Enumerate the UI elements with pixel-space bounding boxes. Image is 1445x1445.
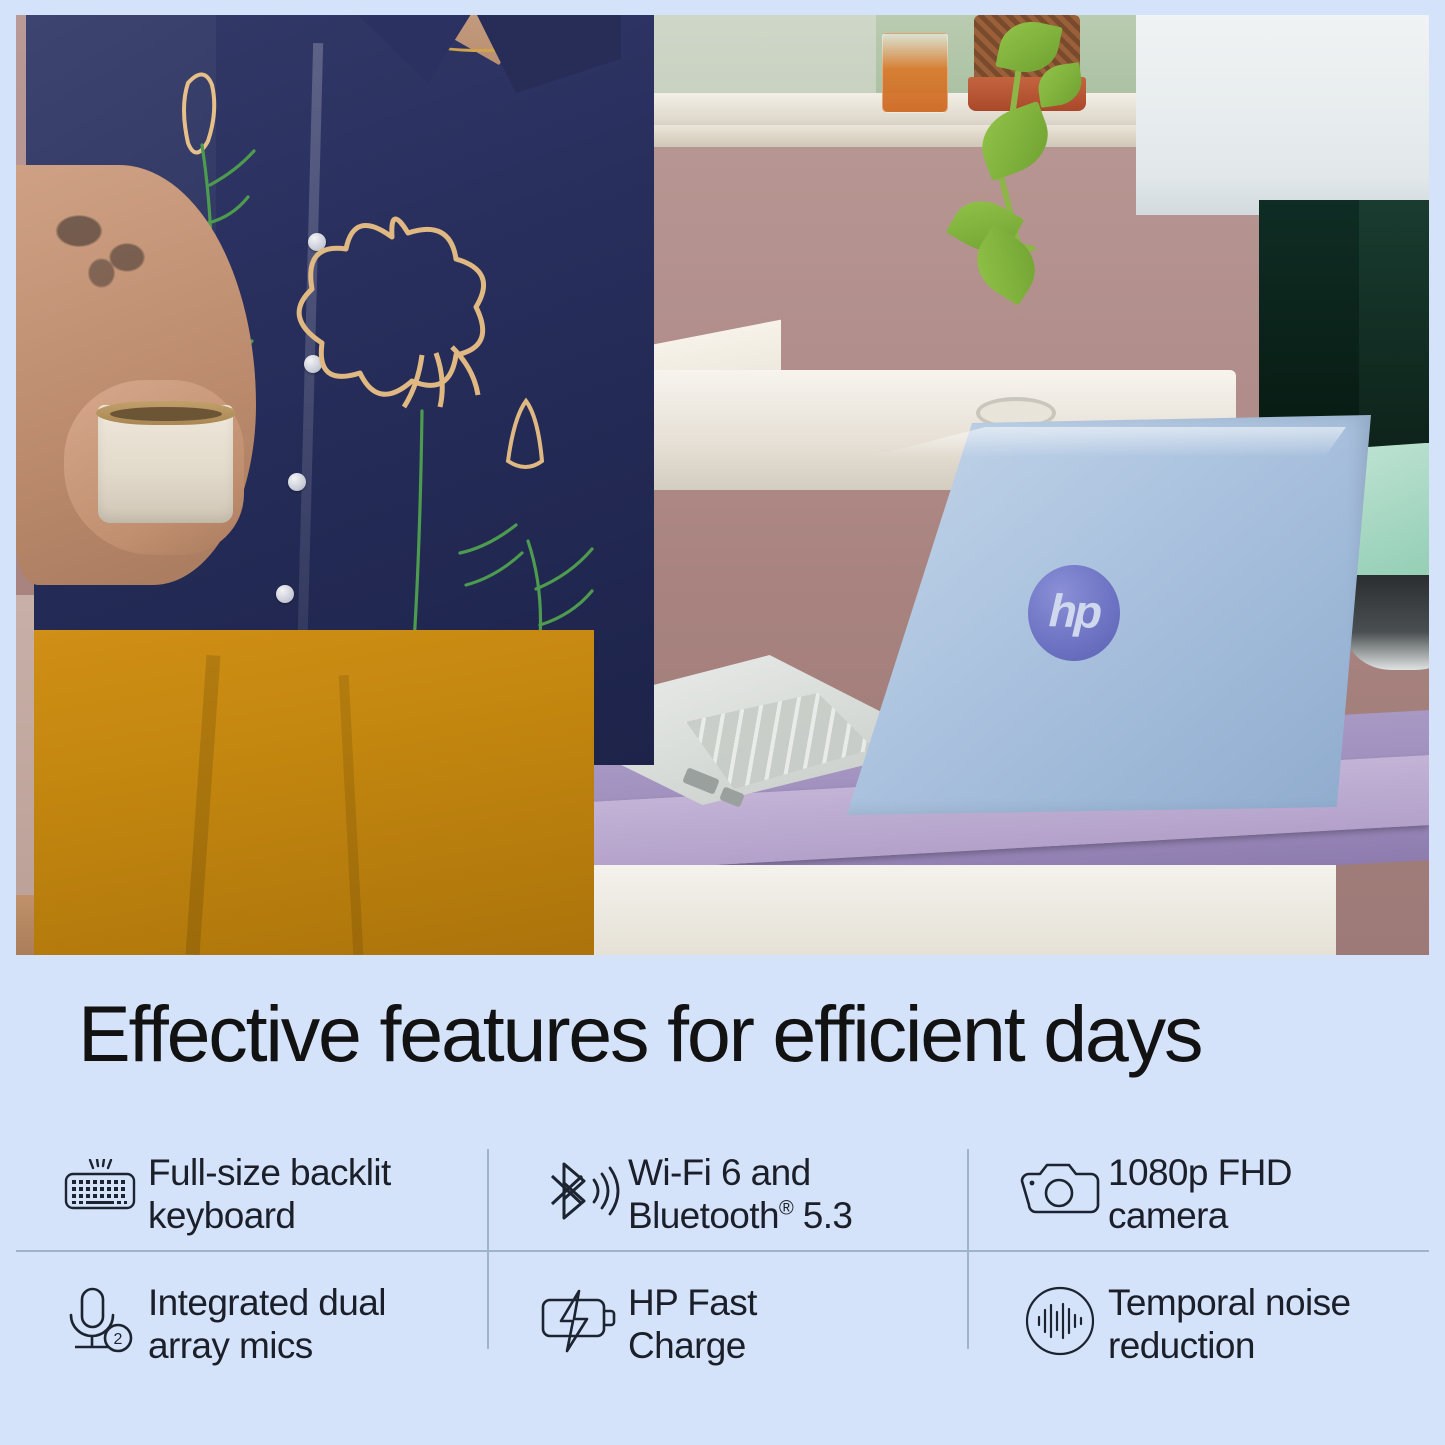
feature-label: Wi-Fi 6 and Bluetooth® 5.3 bbox=[628, 1151, 852, 1238]
shirt-button bbox=[304, 355, 322, 373]
pothos-vine bbox=[946, 25, 1126, 325]
grid-divider-vertical-1 bbox=[487, 1149, 489, 1349]
feature-label: Full-size backlit keyboard bbox=[148, 1151, 391, 1238]
bluetooth-wifi-icon bbox=[532, 1145, 628, 1237]
battery-fast-charge-icon bbox=[532, 1275, 628, 1367]
photo-scene: hp bbox=[16, 15, 1429, 955]
page-title: Effective features for efficient days bbox=[78, 994, 1201, 1073]
amber-jar bbox=[882, 33, 948, 113]
grid-divider-horizontal bbox=[16, 1250, 1429, 1252]
shirt-button bbox=[276, 585, 294, 603]
arm-tattoo bbox=[34, 183, 184, 303]
feature-label: 1080p FHD camera bbox=[1108, 1151, 1292, 1238]
feature-item-fast-charge: HP Fast Charge bbox=[532, 1275, 952, 1368]
shirt-button bbox=[308, 233, 326, 251]
feature-item-backlit-keyboard: Full-size backlit keyboard bbox=[52, 1145, 472, 1238]
noise-waveform-icon bbox=[1012, 1275, 1108, 1367]
feature-label: Temporal noise reduction bbox=[1108, 1281, 1351, 1368]
shirt-button bbox=[288, 473, 306, 491]
laptop-lid-highlight bbox=[816, 427, 1346, 457]
person bbox=[16, 15, 716, 955]
feature-item-noise-reduction: Temporal noise reduction bbox=[1012, 1275, 1432, 1368]
feature-label: HP Fast Charge bbox=[628, 1281, 757, 1368]
grid-divider-vertical-2 bbox=[967, 1149, 969, 1349]
feature-grid: Full-size backlit keyboard Wi-Fi 6 and B… bbox=[16, 1135, 1429, 1425]
feature-item-dual-mics: 2 Integrated dual array mics bbox=[52, 1275, 472, 1368]
feature-label: Integrated dual array mics bbox=[148, 1281, 386, 1368]
mug-interior bbox=[110, 407, 222, 421]
hero-photo: hp bbox=[16, 15, 1429, 955]
upper-cabinet bbox=[1136, 15, 1429, 215]
dual-microphone-icon: 2 bbox=[52, 1275, 148, 1367]
registered-mark: ® bbox=[779, 1198, 793, 1220]
svg-text:2: 2 bbox=[114, 1331, 123, 1348]
camera-icon bbox=[1012, 1145, 1108, 1237]
backlit-keyboard-icon bbox=[52, 1145, 148, 1237]
trousers bbox=[34, 630, 594, 955]
feature-item-wifi-bluetooth: Wi-Fi 6 and Bluetooth® 5.3 bbox=[532, 1145, 952, 1238]
feature-item-camera: 1080p FHD camera bbox=[1012, 1145, 1432, 1238]
